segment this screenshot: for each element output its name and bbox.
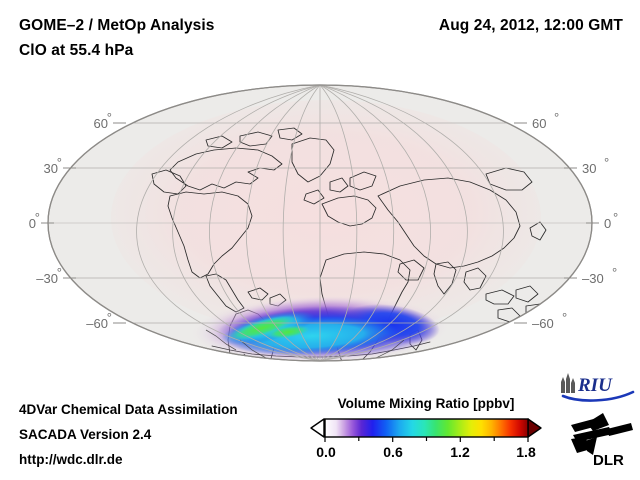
lat-label-60n-right: 60: [532, 116, 546, 131]
lat-label-60s-left: –60: [86, 316, 108, 331]
colorbar-scale: [310, 417, 542, 443]
lat-label-30s-left: –30: [36, 271, 58, 286]
riu-logo: RIU: [558, 371, 636, 403]
colorbar-title: Volume Mixing Ratio [ppbv]: [310, 396, 542, 411]
colorbar-tick-1: 0.6: [383, 444, 402, 460]
lat-degree-0-right: °: [613, 210, 618, 225]
lat-degree-30s-left: °: [57, 265, 62, 280]
lat-degree-60s-right: °: [562, 310, 567, 325]
colorbar-tick-0: 0.0: [316, 444, 335, 460]
footer-version-label: SACADA Version 2.4: [19, 427, 151, 442]
dlr-mark-icon: [571, 413, 633, 455]
colorbar-tick-2: 1.2: [450, 444, 469, 460]
colorbar-ticks: [325, 437, 528, 442]
lat-degree-60s-left: °: [107, 310, 112, 325]
riu-wordmark: RIU: [577, 375, 613, 396]
lat-label-30s-right: –30: [582, 271, 604, 286]
footer-url-link[interactable]: http://wdc.dlr.de: [19, 452, 123, 467]
lat-degree-30n-right: °: [604, 155, 609, 170]
riu-tower-icon: [561, 373, 575, 393]
lat-degree-60n-right: °: [554, 110, 559, 125]
lat-degree-60n-left: °: [107, 110, 112, 125]
lat-label-60s-right: –60: [532, 316, 554, 331]
dlr-logo: DLR: [563, 411, 637, 469]
map-panel: 60 ° 30 ° 0 ° –30 ° –60 ° 60 ° 30 ° 0 ° …: [0, 78, 640, 383]
page-subtitle: ClO at 55.4 hPa: [19, 42, 133, 60]
footer-method-label: 4DVar Chemical Data Assimilation: [19, 402, 238, 417]
colorbar-gradient: [325, 419, 528, 437]
datetime-label: Aug 24, 2012, 12:00 GMT: [439, 17, 623, 35]
lat-label-0-right: 0: [604, 216, 611, 231]
lat-label-30n-right: 30: [582, 161, 596, 176]
dlr-wordmark: DLR: [593, 452, 624, 469]
lat-degree-30n-left: °: [57, 155, 62, 170]
page-title: GOME–2 / MetOp Analysis: [19, 17, 215, 35]
lat-degree-30s-right: °: [612, 265, 617, 280]
colorbar-over-arrow: [528, 419, 541, 437]
colorbar: Volume Mixing Ratio [ppbv]: [310, 396, 542, 476]
colorbar-tick-labels: 0.0 0.6 1.2 1.8: [310, 444, 542, 464]
lat-degree-0-left: °: [35, 210, 40, 225]
world-map: 60 ° 30 ° 0 ° –30 ° –60 ° 60 ° 30 ° 0 ° …: [0, 78, 640, 383]
colorbar-under-arrow: [311, 419, 324, 437]
colorbar-tick-3: 1.8: [516, 444, 535, 460]
